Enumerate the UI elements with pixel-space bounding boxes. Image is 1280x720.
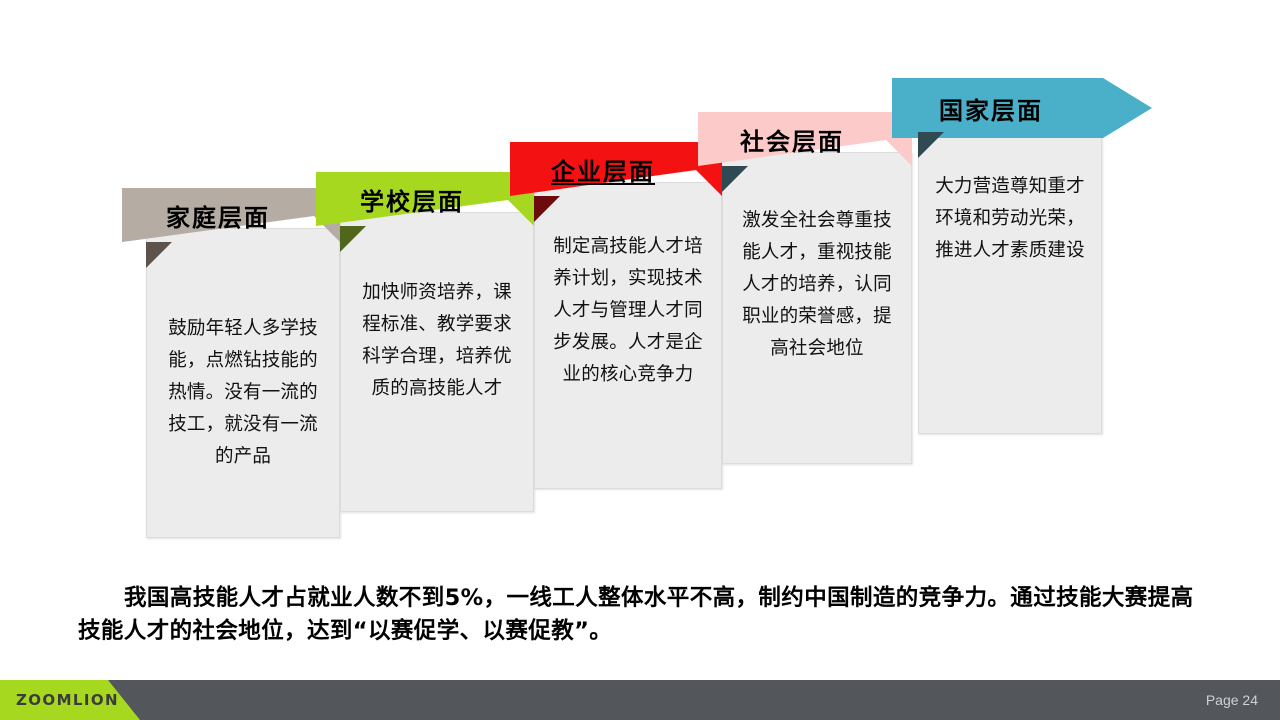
stage-enterprise-label: 企业层面 <box>510 142 722 196</box>
stage-school-card: 加快师资培养，课程标准、教学要求科学合理，培养优质的高技能人才 <box>340 212 534 512</box>
stage-nation-body: 大力营造尊知重才环境和劳动光荣，推进人才素质建设 <box>933 171 1087 267</box>
stage-society-fold-shadow <box>722 166 748 192</box>
stage-family-body: 鼓励年轻人多学技能，点燃钻技能的热情。没有一流的技工，就没有一流的产品 <box>161 313 325 473</box>
stage-family-card: 鼓励年轻人多学技能，点燃钻技能的热情。没有一流的技工，就没有一流的产品 <box>146 228 340 538</box>
zoomlion-logo: ZOOMLION <box>16 691 119 709</box>
stage-family-banner[interactable]: 家庭层面 <box>122 188 340 242</box>
stage-school-fold-shadow <box>340 226 366 252</box>
stage-society-banner[interactable]: 社会层面 <box>698 112 912 166</box>
stage-enterprise-fold-shadow <box>534 196 560 222</box>
stage-family-label: 家庭层面 <box>122 188 340 242</box>
stage-school-label: 学校层面 <box>316 172 534 226</box>
stage-enterprise-body: 制定高技能人才培养计划，实现技术人才与管理人才同步发展。人才是企业的核心竞争力 <box>549 231 707 391</box>
stage-society-card: 激发全社会尊重技能人才，重视技能人才的培养，认同职业的荣誉感，提高社会地位 <box>722 152 912 464</box>
footer-bar <box>0 680 1280 720</box>
process-diagram: 鼓励年轻人多学技能，点燃钻技能的热情。没有一流的技工，就没有一流的产品 家庭层面… <box>0 0 1280 560</box>
slide-footer: ZOOMLION Page 24 <box>0 680 1280 720</box>
slide-canvas: 鼓励年轻人多学技能，点燃钻技能的热情。没有一流的技工，就没有一流的产品 家庭层面… <box>0 0 1280 720</box>
stage-family-fold-shadow <box>146 242 172 268</box>
stage-society-body: 激发全社会尊重技能人才，重视技能人才的培养，认同职业的荣誉感，提高社会地位 <box>737 205 897 365</box>
stage-enterprise-card: 制定高技能人才培养计划，实现技术人才与管理人才同步发展。人才是企业的核心竞争力 <box>534 182 722 489</box>
stage-school-body: 加快师资培养，课程标准、教学要求科学合理，培养优质的高技能人才 <box>355 277 519 405</box>
page-number: Page 24 <box>1206 692 1258 708</box>
stage-nation-label: 国家层面 <box>892 78 1090 138</box>
stage-society-label: 社会层面 <box>698 112 912 166</box>
stage-nation-banner[interactable]: 国家层面 <box>892 78 1152 138</box>
summary-paragraph: 我国高技能人才占就业人数不到5%，一线工人整体水平不高，制约中国制造的竞争力。通… <box>78 582 1208 648</box>
stage-school-banner[interactable]: 学校层面 <box>316 172 534 226</box>
stage-nation-card: 大力营造尊知重才环境和劳动光荣，推进人才素质建设 <box>918 118 1102 434</box>
stage-enterprise-banner[interactable]: 企业层面 <box>510 142 722 196</box>
